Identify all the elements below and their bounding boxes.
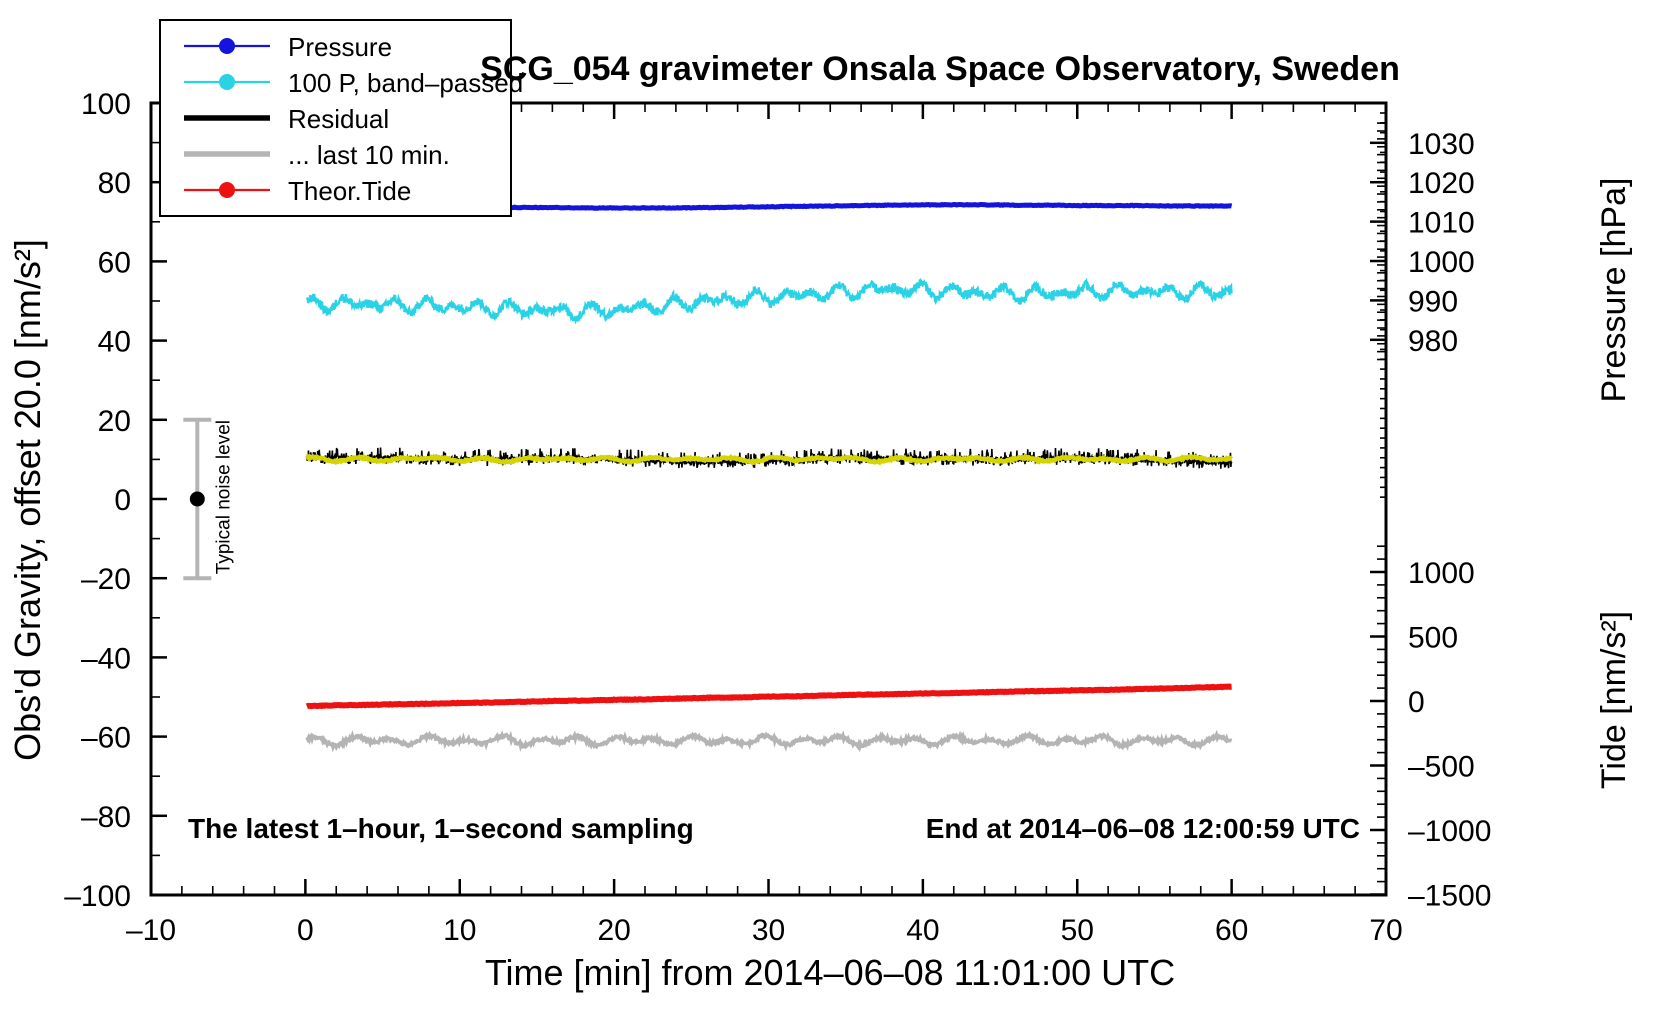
legend-layer: Pressure100 P, band–passedResidual... la… bbox=[160, 20, 523, 216]
y-tick-label-left: –20 bbox=[81, 563, 131, 596]
legend-item-label: Pressure bbox=[288, 32, 392, 62]
chart-title: SCG_054 gravimeter Onsala Space Observat… bbox=[480, 50, 1400, 88]
y-tick-label-left: –40 bbox=[81, 642, 131, 675]
y-tick-label-pressure: 1000 bbox=[1408, 246, 1475, 279]
x-tick-label: 50 bbox=[1061, 914, 1094, 947]
y-tick-label-left: –80 bbox=[81, 801, 131, 834]
y-tick-label-left: 0 bbox=[114, 484, 131, 517]
x-axis-title: Time [min] from 2014–06–08 11:01:00 UTC bbox=[485, 952, 1175, 993]
y-tick-label-left: 20 bbox=[98, 405, 131, 438]
legend-item-label: Residual bbox=[288, 104, 389, 134]
footer-note-right: End at 2014–06–08 12:00:59 UTC bbox=[926, 813, 1360, 844]
plot-frame bbox=[151, 103, 1386, 895]
legend-item-label: ... last 10 min. bbox=[288, 140, 450, 170]
y-tick-label-pressure: 990 bbox=[1408, 285, 1458, 318]
y-tick-label-left: 60 bbox=[98, 246, 131, 279]
y-tick-label-tide: –1000 bbox=[1408, 815, 1491, 848]
noise-level-label: Typical noise level bbox=[213, 420, 234, 574]
legend-swatch-marker bbox=[219, 74, 235, 90]
trace-last-10-min bbox=[307, 734, 1232, 747]
x-tick-label: 40 bbox=[906, 914, 939, 947]
y-tick-label-tide: –1500 bbox=[1408, 880, 1491, 913]
x-tick-label: 0 bbox=[297, 914, 314, 947]
y-tick-label-tide: –500 bbox=[1408, 751, 1475, 784]
x-tick-label: 10 bbox=[443, 914, 476, 947]
plot-page: –10010203040506070100806040200–20–40–60–… bbox=[0, 0, 1660, 1020]
y-tick-label-left: –60 bbox=[81, 722, 131, 755]
x-tick-label: –10 bbox=[126, 914, 176, 947]
y-tick-label-left: 80 bbox=[98, 167, 131, 200]
data-traces-layer bbox=[307, 204, 1232, 747]
y-tick-label-tide: 1000 bbox=[1408, 557, 1475, 590]
legend-item-label: Theor.Tide bbox=[288, 176, 411, 206]
y-tick-label-left: –100 bbox=[64, 880, 131, 913]
y-tick-label-left: 100 bbox=[81, 88, 131, 121]
y-axis-title-pressure: Pressure [hPa] bbox=[1595, 178, 1633, 403]
trace-theoretical-tide bbox=[307, 687, 1232, 707]
x-tick-label: 20 bbox=[597, 914, 630, 947]
y-axis-title-tide: Tide [nm/s²] bbox=[1595, 611, 1633, 789]
trace-bandpassed-pressure bbox=[307, 279, 1232, 321]
legend-swatch-marker bbox=[219, 38, 235, 54]
y-tick-label-pressure: 1030 bbox=[1408, 128, 1475, 161]
footer-note-left: The latest 1–hour, 1–second sampling bbox=[188, 813, 694, 844]
legend-swatch-marker bbox=[219, 182, 235, 198]
gravimeter-chart: –10010203040506070100806040200–20–40–60–… bbox=[0, 0, 1660, 1020]
y-tick-label-tide: 0 bbox=[1408, 686, 1425, 719]
y-tick-label-pressure: 1020 bbox=[1408, 167, 1475, 200]
y-tick-label-tide: 500 bbox=[1408, 622, 1458, 655]
y-tick-label-pressure: 1010 bbox=[1408, 207, 1475, 240]
noise-bar-center-dot bbox=[190, 492, 205, 507]
x-tick-label: 30 bbox=[752, 914, 785, 947]
y-axis-title-left: Obs'd Gravity, offset 20.0 [nm/s²] bbox=[7, 239, 48, 761]
y-tick-label-pressure: 980 bbox=[1408, 325, 1458, 358]
x-tick-label: 70 bbox=[1369, 914, 1402, 947]
annotations-layer: Typical noise level bbox=[183, 420, 234, 578]
y-tick-label-left: 40 bbox=[98, 326, 131, 359]
x-tick-label: 60 bbox=[1215, 914, 1248, 947]
